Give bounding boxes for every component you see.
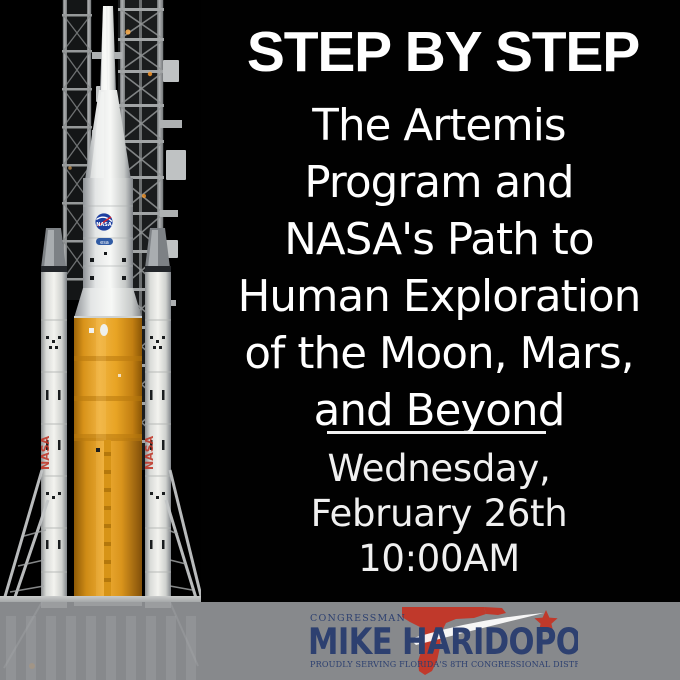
congressman-haridopolos-logo[interactable]: CONGRESSMAN MIKE HARIDOPOLOS PROUDLY SER… (306, 605, 578, 677)
subtitle-line: Program and (199, 155, 679, 212)
event-datetime: Wednesday, February 26th 10:00AM (199, 446, 679, 581)
event-date: February 26th (199, 491, 679, 536)
subtitle-line: The Artemis (199, 98, 679, 155)
logo-tagline: PROUDLY SERVING FLORIDA'S 8TH CONGRESSIO… (310, 659, 578, 669)
subtitle-line: of the Moon, Mars, (199, 326, 679, 383)
footer-band: CONGRESSMAN MIKE HARIDOPOLOS PROUDLY SER… (0, 602, 680, 680)
poster-text-column: STEP BY STEP The Artemis Program and NAS… (201, 0, 680, 680)
svg-text:NASA: NASA (39, 435, 52, 470)
footer-rocket-overlay (0, 602, 201, 680)
event-day: Wednesday, (199, 446, 679, 491)
svg-text:NASA: NASA (96, 222, 112, 228)
sls-rocket-launch-pad-photo: NASA esa (0, 0, 201, 680)
event-time: 10:00AM (199, 536, 679, 581)
svg-text:esa: esa (100, 240, 109, 246)
page-title: STEP BY STEP (206, 24, 680, 81)
logo-name: MIKE HARIDOPOLOS (308, 620, 578, 662)
subtitle-line: Human Exploration (199, 269, 679, 326)
svg-text:NASA: NASA (143, 435, 156, 470)
subtitle-line: NASA's Path to (199, 212, 679, 269)
poster-subtitle: The Artemis Program and NASA's Path to H… (199, 98, 679, 440)
divider (327, 431, 546, 434)
event-announcement-poster: NASA esa (0, 0, 680, 680)
